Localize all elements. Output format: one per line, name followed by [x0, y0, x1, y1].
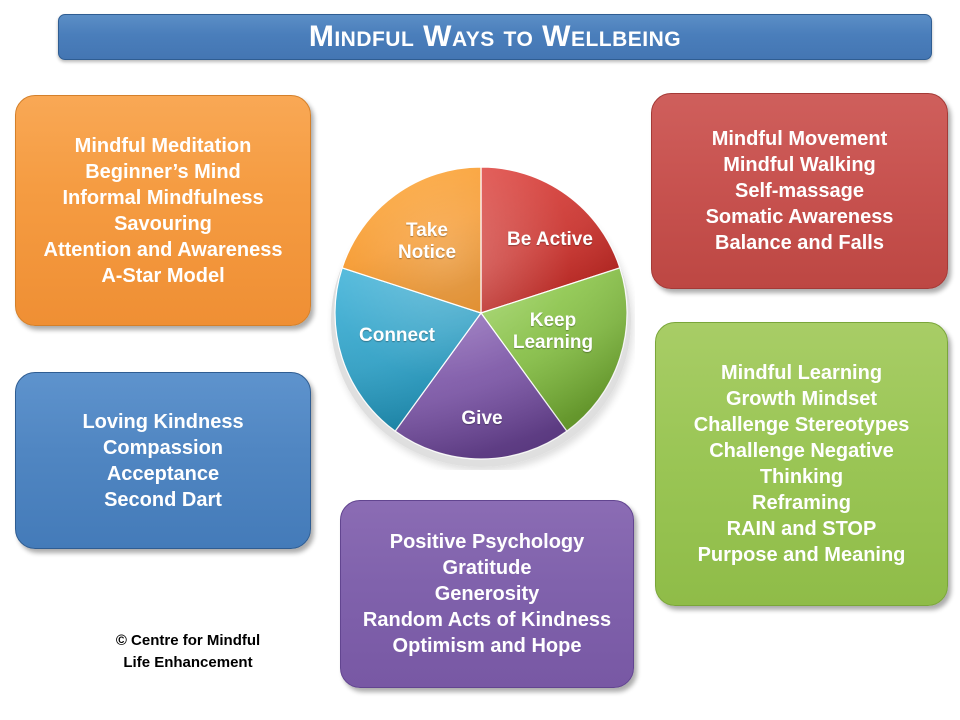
list-item: Second Dart: [104, 487, 222, 513]
list-item: Optimism and Hope: [393, 633, 582, 659]
list-item: Loving Kindness: [82, 409, 243, 435]
list-item: Thinking: [760, 464, 843, 490]
list-item: Beginner’s Mind: [85, 159, 241, 185]
list-item: Self-massage: [735, 178, 864, 204]
copyright-line-1: © Centre for Mindful: [64, 630, 312, 652]
list-item: Savouring: [114, 211, 212, 237]
list-item: Acceptance: [107, 461, 219, 487]
list-item: Positive Psychology: [390, 529, 585, 555]
pie-slice-label-be-active: Be Active: [485, 229, 615, 251]
list-item: A-Star Model: [101, 263, 224, 289]
take-notice-practices-box: Mindful Meditation Beginner’s Mind Infor…: [15, 95, 311, 326]
pie-slice-label-give: Give: [437, 408, 527, 430]
page-title-bar: Mindful Ways to Wellbeing: [58, 14, 932, 60]
give-practices-box: Positive Psychology Gratitude Generosity…: [340, 500, 634, 688]
pie-slice-label-connect: Connect: [339, 325, 455, 347]
list-item: Mindful Learning: [721, 360, 882, 386]
list-item: Balance and Falls: [715, 230, 884, 256]
list-item: Challenge Negative: [709, 438, 894, 464]
list-item: Informal Mindfulness: [62, 185, 263, 211]
keep-learning-practices-box: Mindful Learning Growth Mindset Challeng…: [655, 322, 948, 606]
list-item: Purpose and Meaning: [698, 542, 906, 568]
connect-practices-box: Loving Kindness Compassion Acceptance Se…: [15, 372, 311, 549]
list-item: RAIN and STOP: [727, 516, 877, 542]
list-item: Growth Mindset: [726, 386, 877, 412]
list-item: Mindful Meditation: [75, 133, 252, 159]
pie-slice-label-take-notice: Take Notice: [379, 220, 475, 265]
list-item: Challenge Stereotypes: [694, 412, 910, 438]
list-item: Somatic Awareness: [706, 204, 894, 230]
list-item: Random Acts of Kindness: [363, 607, 611, 633]
copyright-footer: © Centre for Mindful Life Enhancement: [64, 630, 312, 674]
list-item: Compassion: [103, 435, 223, 461]
pie-slice-label-keep-learning: Keep Learning: [497, 310, 609, 355]
list-item: Reframing: [752, 490, 851, 516]
page-title: Mindful Ways to Wellbeing: [309, 22, 681, 52]
copyright-line-2: Life Enhancement: [64, 652, 312, 674]
wellbeing-pie-chart: Be Active Keep Learning Give Connect Tak…: [327, 158, 635, 470]
list-item: Generosity: [435, 581, 539, 607]
list-item: Mindful Walking: [723, 152, 876, 178]
be-active-practices-box: Mindful Movement Mindful Walking Self-ma…: [651, 93, 948, 289]
list-item: Gratitude: [443, 555, 532, 581]
list-item: Attention and Awareness: [44, 237, 283, 263]
list-item: Mindful Movement: [712, 126, 888, 152]
